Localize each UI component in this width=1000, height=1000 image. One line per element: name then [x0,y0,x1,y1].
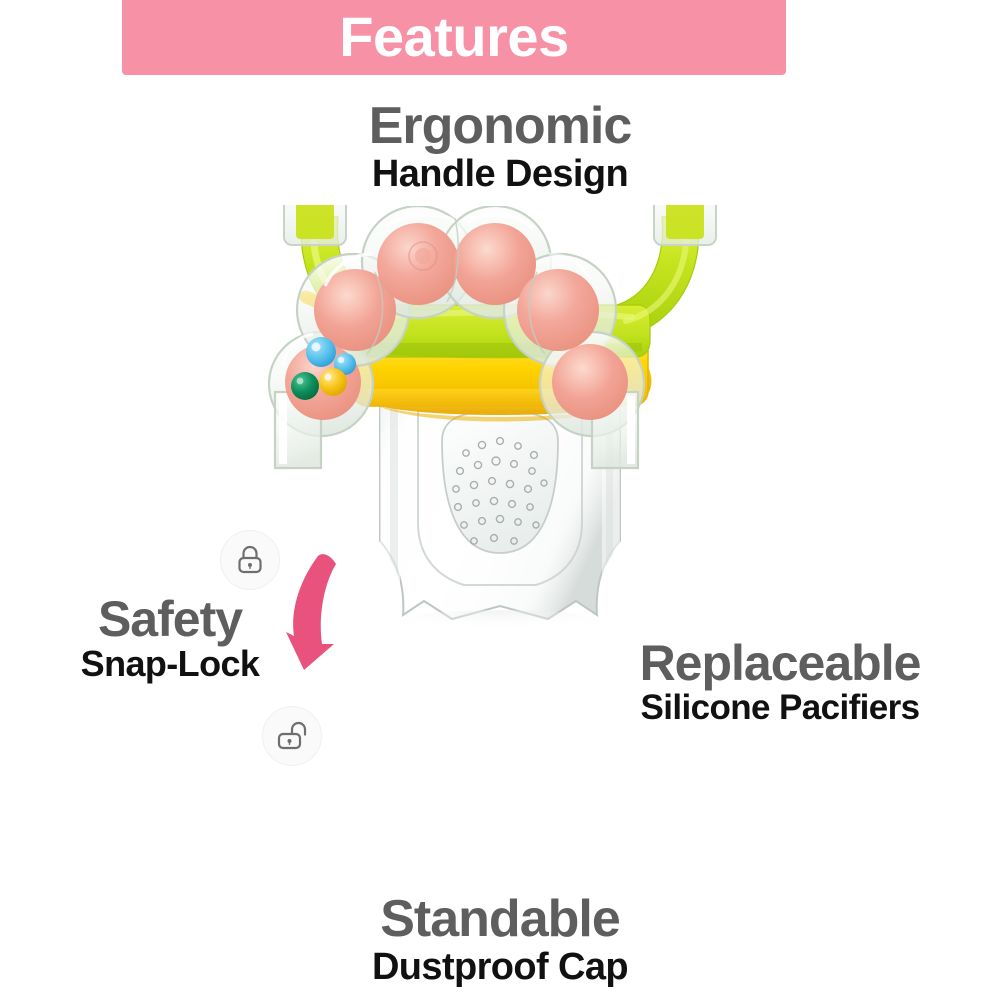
callout-ergonomic-headline: Ergonomic [0,100,1000,153]
callout-replaceable-headline: Replaceable [560,638,1000,689]
callout-standable-headline: Standable [0,893,1000,946]
callout-safety: Safety Snap-Lock [20,594,320,683]
features-banner: Features [122,0,786,75]
callout-standable: Standable Dustproof Cap [0,893,1000,987]
rattle-ring-handle [255,206,655,496]
padlock-closed-icon [220,530,280,590]
callout-replaceable-subline: Silicone Pacifiers [560,690,1000,726]
curved-arrow-down-icon [278,552,352,676]
callout-standable-subline: Dustproof Cap [0,948,1000,987]
callout-replaceable: Replaceable Silicone Pacifiers [560,638,1000,726]
callout-safety-headline: Safety [20,594,320,645]
callout-ergonomic: Ergonomic Handle Design [0,100,1000,194]
callout-ergonomic-subline: Handle Design [0,155,1000,194]
callout-safety-subline: Snap-Lock [20,646,320,683]
page-title: Features [339,9,568,65]
padlock-open-icon [262,706,322,766]
